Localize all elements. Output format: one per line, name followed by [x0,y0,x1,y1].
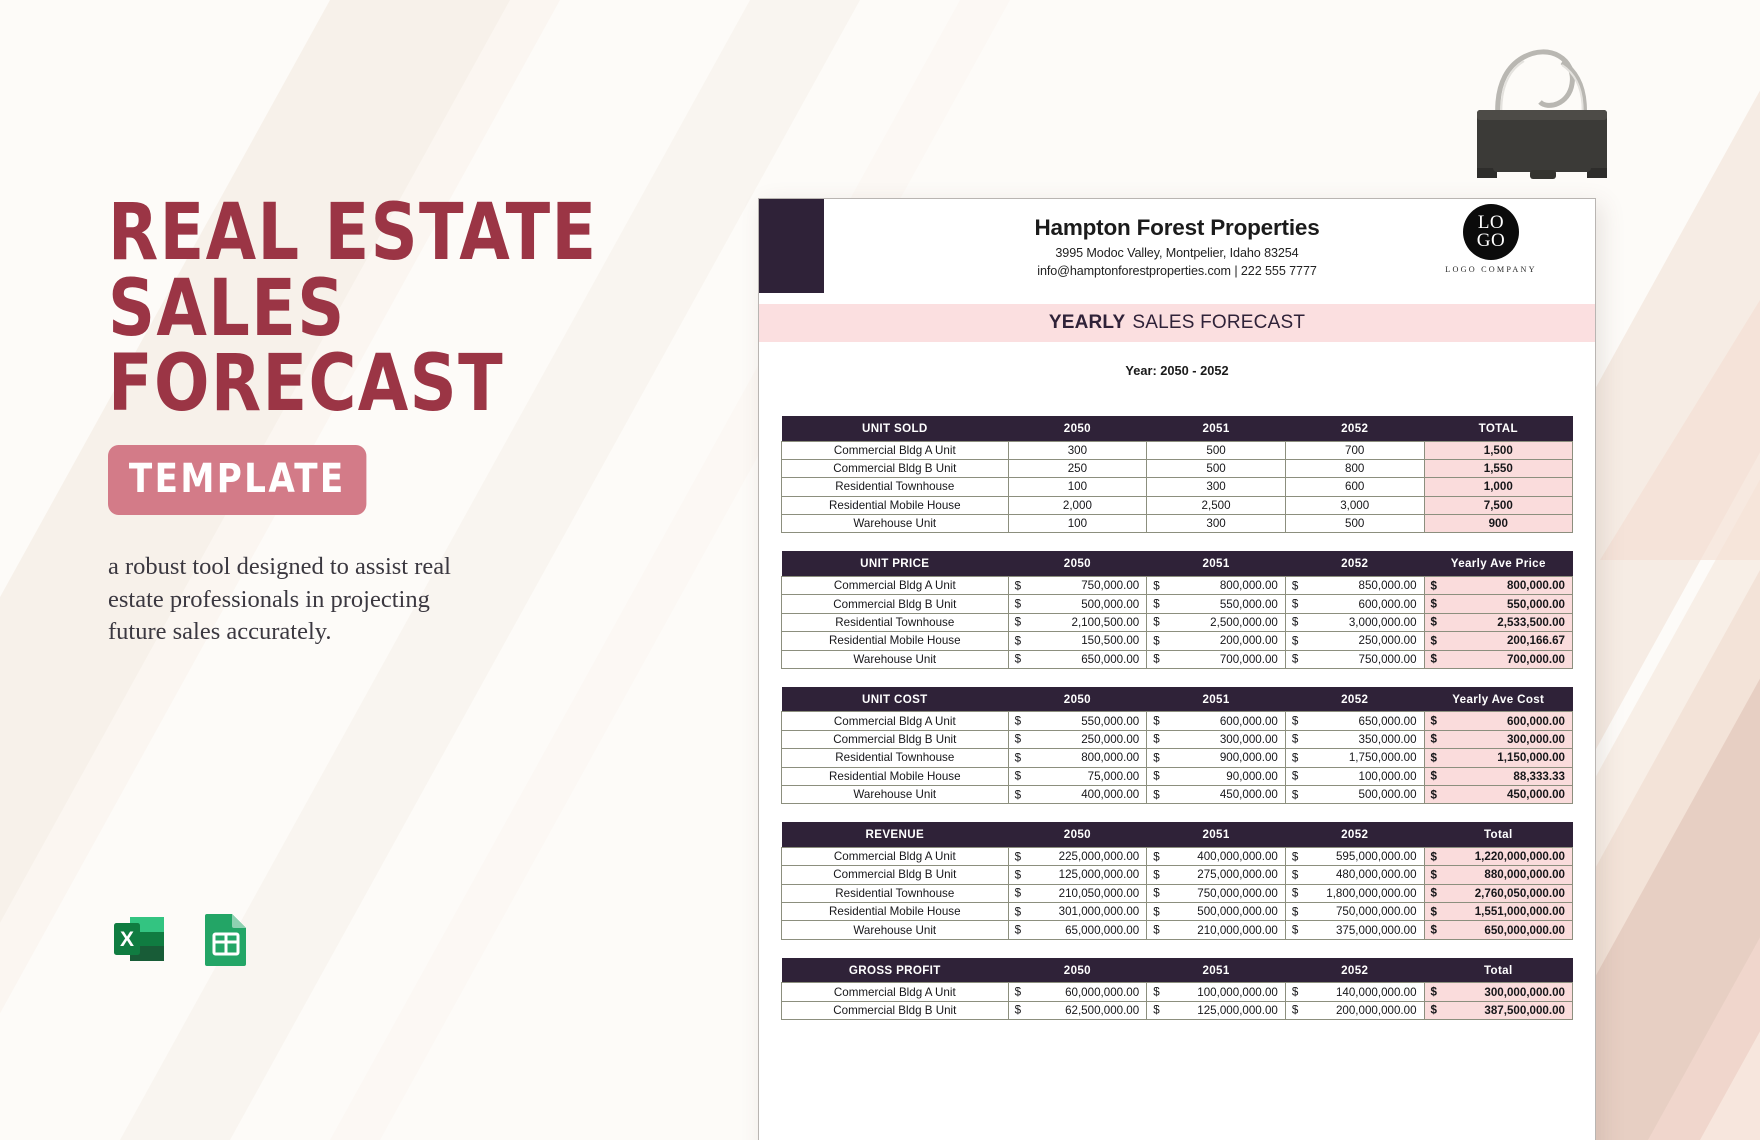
cell-value: $125,000,000.00 [1008,866,1147,884]
report-banner: YEARLY SALES FORECAST [759,304,1595,342]
logo-caption: LOGO COMPANY [1443,265,1539,274]
currency-symbol: $ [1292,616,1298,629]
cell-value: $60,000,000.00 [1008,983,1147,1001]
cell-total: $800,000.00 [1424,576,1572,594]
forecast-document: Hampton Forest Properties 3995 Modoc Val… [758,198,1596,1140]
table-row: Commercial Bldg A Unit$60,000,000.00$100… [782,983,1573,1001]
cell-total: $700,000.00 [1424,650,1572,668]
table-unit-cost: UNIT COST205020512052Yearly Ave CostComm… [781,687,1573,804]
cell-value: 800 [1285,459,1424,477]
currency-symbol: $ [1431,1004,1437,1017]
row-label: Residential Townhouse [782,478,1009,496]
currency-symbol: $ [1292,579,1298,592]
cell-value: $600,000.00 [1147,712,1286,730]
column-header-yearly-ave-cost: Yearly Ave Cost [1424,687,1572,712]
promo-description: a robust tool designed to assist real es… [108,551,478,649]
currency-symbol: $ [1015,770,1021,783]
column-header-2050: 2050 [1008,551,1147,576]
currency-symbol: $ [1431,887,1437,900]
currency-symbol: $ [1015,905,1021,918]
column-header-2050: 2050 [1008,416,1147,441]
currency-symbol: $ [1431,634,1437,647]
currency-symbol: $ [1015,868,1021,881]
cell-total: 900 [1424,515,1572,533]
currency-symbol: $ [1292,850,1298,863]
cell-value: $500,000.00 [1008,595,1147,613]
cell-total: $550,000.00 [1424,595,1572,613]
currency-symbol: $ [1015,733,1021,746]
row-label: Warehouse Unit [782,921,1009,939]
column-header-category: GROSS PROFIT [782,958,1009,983]
column-header-yearly-ave-price: Yearly Ave Price [1424,551,1572,576]
row-label: Commercial Bldg A Unit [782,847,1009,865]
currency-symbol: $ [1431,733,1437,746]
table-section-unit-sold: UNIT SOLD205020512052TOTALCommercial Bld… [781,416,1573,533]
cell-value: $550,000.00 [1008,712,1147,730]
table-row: Residential Mobile House2,0002,5003,0007… [782,496,1573,514]
cell-value: $300,000.00 [1147,730,1286,748]
promo-panel: REAL ESTATE SALES FORECAST TEMPLATE a ro… [108,196,608,649]
currency-symbol: $ [1153,733,1159,746]
cell-total: $200,166.67 [1424,632,1572,650]
cell-value: $450,000.00 [1147,785,1286,803]
cell-value: $140,000,000.00 [1285,983,1424,1001]
cell-value: 600 [1285,478,1424,496]
cell-value: $550,000.00 [1147,595,1286,613]
cell-value: $3,000,000.00 [1285,613,1424,631]
cell-value: $2,100,500.00 [1008,613,1147,631]
cell-value: $650,000.00 [1008,650,1147,668]
cell-value: $200,000.00 [1147,632,1286,650]
currency-symbol: $ [1292,733,1298,746]
row-label: Commercial Bldg A Unit [782,983,1009,1001]
table-row: Commercial Bldg B Unit$500,000.00$550,00… [782,595,1573,613]
row-label: Residential Townhouse [782,884,1009,902]
cell-value: 2,000 [1008,496,1147,514]
cell-total: $300,000,000.00 [1424,983,1572,1001]
row-label: Commercial Bldg A Unit [782,576,1009,594]
cell-value: $210,050,000.00 [1008,884,1147,902]
logo-line-2: GO [1477,232,1505,250]
currency-symbol: $ [1153,579,1159,592]
cell-value: $900,000.00 [1147,749,1286,767]
table-row: Residential Townhouse1003006001,000 [782,478,1573,496]
currency-symbol: $ [1153,887,1159,900]
currency-symbol: $ [1431,616,1437,629]
table-row: Warehouse Unit$650,000.00$700,000.00$750… [782,650,1573,668]
row-label: Commercial Bldg A Unit [782,712,1009,730]
cell-value: $100,000.00 [1285,767,1424,785]
cell-total: $450,000.00 [1424,785,1572,803]
cell-total: $1,220,000,000.00 [1424,847,1572,865]
cell-value: 500 [1147,441,1286,459]
banner-emphasis: YEARLY [1049,312,1126,334]
table-section-unit-cost: UNIT COST205020512052Yearly Ave CostComm… [781,687,1573,804]
column-header-2052: 2052 [1285,958,1424,983]
template-badge: TEMPLATE [108,445,367,515]
currency-symbol: $ [1153,598,1159,611]
logo-badge-icon: LO GO [1463,204,1519,260]
cell-value: 300 [1008,441,1147,459]
cell-value: $225,000,000.00 [1008,847,1147,865]
currency-symbol: $ [1153,905,1159,918]
currency-symbol: $ [1292,715,1298,728]
microsoft-excel-icon[interactable]: X [108,908,170,970]
column-header-2051: 2051 [1147,416,1286,441]
cell-total: 1,000 [1424,478,1572,496]
title-line-3: FORECAST [108,347,573,423]
table-row: Warehouse Unit$65,000,000.00$210,000,000… [782,921,1573,939]
currency-symbol: $ [1292,924,1298,937]
cell-value: 3,000 [1285,496,1424,514]
column-header-category: REVENUE [782,822,1009,847]
currency-symbol: $ [1431,653,1437,666]
column-header-2051: 2051 [1147,551,1286,576]
logo: LO GO LOGO COMPANY [1443,204,1539,274]
cell-value: $210,000,000.00 [1147,921,1286,939]
table-unit-price: UNIT PRICE205020512052Yearly Ave PriceCo… [781,551,1573,668]
title-line-2: SALES [108,272,573,348]
cell-total: $2,760,050,000.00 [1424,884,1572,902]
currency-symbol: $ [1153,751,1159,764]
row-label: Commercial Bldg B Unit [782,459,1009,477]
table-row: Commercial Bldg A Unit3005007001,500 [782,441,1573,459]
currency-symbol: $ [1431,788,1437,801]
currency-symbol: $ [1431,751,1437,764]
row-label: Commercial Bldg A Unit [782,441,1009,459]
cell-value: 100 [1008,515,1147,533]
currency-symbol: $ [1015,634,1021,647]
currency-symbol: $ [1015,850,1021,863]
column-header-2052: 2052 [1285,822,1424,847]
cell-value: $301,000,000.00 [1008,903,1147,921]
currency-symbol: $ [1431,986,1437,999]
table-header-row: REVENUE205020512052Total [782,822,1573,847]
table-gross-profit: GROSS PROFIT205020512052TotalCommercial … [781,958,1573,1020]
table-row: Commercial Bldg A Unit$750,000.00$800,00… [782,576,1573,594]
column-header-2050: 2050 [1008,822,1147,847]
table-row: Residential Mobile House$150,500.00$200,… [782,632,1573,650]
currency-symbol: $ [1292,1004,1298,1017]
cell-value: $250,000.00 [1008,730,1147,748]
cell-value: $200,000,000.00 [1285,1001,1424,1019]
currency-symbol: $ [1015,653,1021,666]
cell-value: 100 [1008,478,1147,496]
currency-symbol: $ [1431,868,1437,881]
cell-value: $750,000.00 [1008,576,1147,594]
currency-symbol: $ [1292,868,1298,881]
currency-symbol: $ [1153,924,1159,937]
cell-total: $1,150,000.00 [1424,749,1572,767]
google-sheets-icon[interactable] [192,908,254,970]
table-row: Commercial Bldg B Unit$125,000,000.00$27… [782,866,1573,884]
cell-total: $88,333.33 [1424,767,1572,785]
currency-symbol: $ [1153,850,1159,863]
currency-symbol: $ [1431,715,1437,728]
currency-symbol: $ [1015,1004,1021,1017]
cell-value: $400,000,000.00 [1147,847,1286,865]
currency-symbol: $ [1015,788,1021,801]
cell-value: $90,000.00 [1147,767,1286,785]
table-row: Residential Mobile House$75,000.00$90,00… [782,767,1573,785]
table-row: Residential Townhouse$800,000.00$900,000… [782,749,1573,767]
column-header-2052: 2052 [1285,687,1424,712]
cell-total: $600,000.00 [1424,712,1572,730]
table-row: Commercial Bldg A Unit$225,000,000.00$40… [782,847,1573,865]
row-label: Warehouse Unit [782,515,1009,533]
currency-symbol: $ [1292,905,1298,918]
row-label: Residential Mobile House [782,632,1009,650]
column-header-2052: 2052 [1285,416,1424,441]
cell-total: $2,533,500.00 [1424,613,1572,631]
currency-symbol: $ [1153,616,1159,629]
cell-value: $275,000,000.00 [1147,866,1286,884]
cell-value: $500,000,000.00 [1147,903,1286,921]
column-header-2050: 2050 [1008,958,1147,983]
currency-symbol: $ [1431,579,1437,592]
cell-value: $480,000,000.00 [1285,866,1424,884]
cell-value: $250,000.00 [1285,632,1424,650]
currency-symbol: $ [1431,598,1437,611]
cell-value: $62,500,000.00 [1008,1001,1147,1019]
row-label: Residential Mobile House [782,903,1009,921]
svg-text:X: X [120,928,134,951]
cell-total: $650,000,000.00 [1424,921,1572,939]
column-header-category: UNIT SOLD [782,416,1009,441]
cell-value: $595,000,000.00 [1285,847,1424,865]
cell-value: 300 [1147,515,1286,533]
cell-value: $850,000.00 [1285,576,1424,594]
table-row: Commercial Bldg B Unit2505008001,550 [782,459,1573,477]
currency-symbol: $ [1015,887,1021,900]
cell-value: $750,000.00 [1285,650,1424,668]
cell-value: $800,000.00 [1008,749,1147,767]
column-header-category: UNIT PRICE [782,551,1009,576]
file-format-icons: X [108,908,254,970]
document-header: Hampton Forest Properties 3995 Modoc Val… [759,199,1595,278]
cell-total: $387,500,000.00 [1424,1001,1572,1019]
currency-symbol: $ [1153,653,1159,666]
column-header-category: UNIT COST [782,687,1009,712]
cell-total: 1,500 [1424,441,1572,459]
table-revenue: REVENUE205020512052TotalCommercial Bldg … [781,822,1573,939]
column-header-2052: 2052 [1285,551,1424,576]
banner-rest: SALES FORECAST [1132,312,1305,334]
table-row: Warehouse Unit100300500900 [782,515,1573,533]
cell-value: 500 [1147,459,1286,477]
currency-symbol: $ [1292,887,1298,900]
cell-value: 500 [1285,515,1424,533]
cell-total: $300,000.00 [1424,730,1572,748]
table-header-row: GROSS PROFIT205020512052Total [782,958,1573,983]
table-section-revenue: REVENUE205020512052TotalCommercial Bldg … [781,822,1573,939]
row-label: Commercial Bldg B Unit [782,730,1009,748]
currency-symbol: $ [1292,788,1298,801]
table-row: Residential Mobile House$301,000,000.00$… [782,903,1573,921]
cell-value: 250 [1008,459,1147,477]
currency-symbol: $ [1292,770,1298,783]
currency-symbol: $ [1431,905,1437,918]
column-header-2051: 2051 [1147,822,1286,847]
cell-value: $800,000.00 [1147,576,1286,594]
currency-symbol: $ [1015,616,1021,629]
currency-symbol: $ [1153,715,1159,728]
table-header-row: UNIT SOLD205020512052TOTAL [782,416,1573,441]
tables-container: UNIT SOLD205020512052TOTALCommercial Bld… [759,416,1595,1020]
column-header-total: Total [1424,958,1572,983]
row-label: Warehouse Unit [782,785,1009,803]
page-title: REAL ESTATE SALES FORECAST [108,196,573,423]
currency-symbol: $ [1431,850,1437,863]
table-header-row: UNIT COST205020512052Yearly Ave Cost [782,687,1573,712]
currency-symbol: $ [1153,1004,1159,1017]
table-section-gross-profit: GROSS PROFIT205020512052TotalCommercial … [781,958,1573,1020]
cell-total: $880,000,000.00 [1424,866,1572,884]
cell-value: $2,500,000.00 [1147,613,1286,631]
row-label: Commercial Bldg B Unit [782,595,1009,613]
table-unit-sold: UNIT SOLD205020512052TOTALCommercial Bld… [781,416,1573,533]
currency-symbol: $ [1015,924,1021,937]
cell-value: $75,000.00 [1008,767,1147,785]
cell-value: $600,000.00 [1285,595,1424,613]
table-row: Residential Townhouse$2,100,500.00$2,500… [782,613,1573,631]
currency-symbol: $ [1431,924,1437,937]
cell-total: $1,551,000,000.00 [1424,903,1572,921]
cell-total: 1,550 [1424,459,1572,477]
column-header-total: Total [1424,822,1572,847]
table-row: Residential Townhouse$210,050,000.00$750… [782,884,1573,902]
currency-symbol: $ [1015,579,1021,592]
cell-value: 700 [1285,441,1424,459]
currency-symbol: $ [1431,770,1437,783]
cell-value: $375,000,000.00 [1285,921,1424,939]
currency-symbol: $ [1153,634,1159,647]
cell-value: $100,000,000.00 [1147,983,1286,1001]
currency-symbol: $ [1153,868,1159,881]
row-label: Residential Mobile House [782,767,1009,785]
cell-value: 300 [1147,478,1286,496]
cell-total: 7,500 [1424,496,1572,514]
currency-symbol: $ [1015,986,1021,999]
cell-value: $1,750,000.00 [1285,749,1424,767]
table-row: Commercial Bldg B Unit$250,000.00$300,00… [782,730,1573,748]
table-section-unit-price: UNIT PRICE205020512052Yearly Ave PriceCo… [781,551,1573,668]
cell-value: $500,000.00 [1285,785,1424,803]
cell-value: $150,500.00 [1008,632,1147,650]
title-line-1: REAL ESTATE [108,196,573,272]
column-header-2050: 2050 [1008,687,1147,712]
currency-symbol: $ [1153,770,1159,783]
currency-symbol: $ [1292,751,1298,764]
currency-symbol: $ [1015,751,1021,764]
cell-value: $750,000,000.00 [1285,903,1424,921]
binder-clip-icon [1452,36,1632,186]
currency-symbol: $ [1292,986,1298,999]
row-label: Residential Townhouse [782,613,1009,631]
cell-value: $700,000.00 [1147,650,1286,668]
currency-symbol: $ [1292,653,1298,666]
cell-value: $750,000,000.00 [1147,884,1286,902]
cell-value: $65,000,000.00 [1008,921,1147,939]
row-label: Commercial Bldg B Unit [782,1001,1009,1019]
table-row: Commercial Bldg B Unit$62,500,000.00$125… [782,1001,1573,1019]
row-label: Residential Townhouse [782,749,1009,767]
column-header-total: TOTAL [1424,416,1572,441]
currency-symbol: $ [1015,715,1021,728]
column-header-2051: 2051 [1147,958,1286,983]
row-label: Commercial Bldg B Unit [782,866,1009,884]
currency-symbol: $ [1153,788,1159,801]
cell-value: $400,000.00 [1008,785,1147,803]
cell-value: $350,000.00 [1285,730,1424,748]
currency-symbol: $ [1153,986,1159,999]
cell-value: $1,800,000,000.00 [1285,884,1424,902]
column-header-2051: 2051 [1147,687,1286,712]
table-row: Commercial Bldg A Unit$550,000.00$600,00… [782,712,1573,730]
year-range-label: Year: 2050 - 2052 [759,363,1595,378]
table-row: Warehouse Unit$400,000.00$450,000.00$500… [782,785,1573,803]
cell-value: $125,000,000.00 [1147,1001,1286,1019]
currency-symbol: $ [1015,598,1021,611]
cell-value: 2,500 [1147,496,1286,514]
row-label: Residential Mobile House [782,496,1009,514]
cell-value: $650,000.00 [1285,712,1424,730]
row-label: Warehouse Unit [782,650,1009,668]
currency-symbol: $ [1292,634,1298,647]
currency-symbol: $ [1292,598,1298,611]
table-header-row: UNIT PRICE205020512052Yearly Ave Price [782,551,1573,576]
